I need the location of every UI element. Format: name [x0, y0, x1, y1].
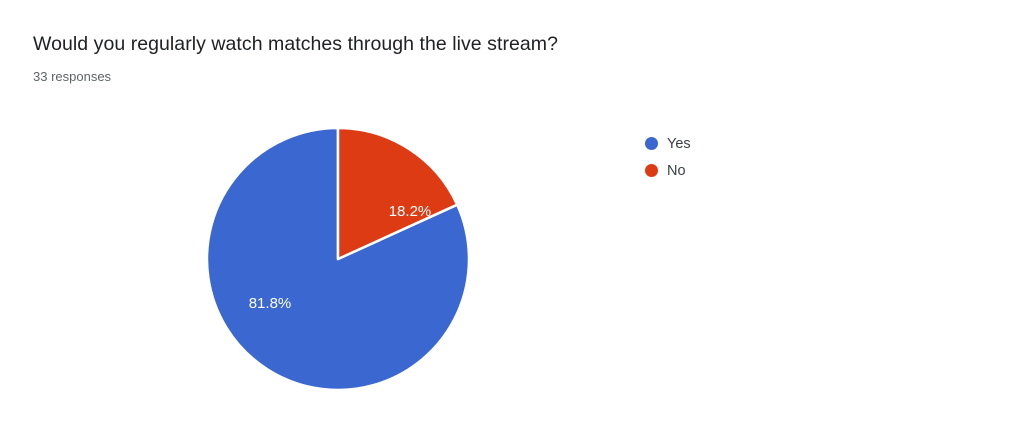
legend-label-no: No — [667, 163, 686, 179]
legend-item-no[interactable]: No — [645, 157, 845, 184]
legend-item-yes[interactable]: Yes — [645, 130, 845, 157]
legend-swatch-icon-yes — [645, 137, 658, 150]
legend-label-yes: Yes — [667, 136, 691, 152]
pie-slice-label-no: 18.2% — [389, 203, 432, 220]
pie-slice-label-yes: 81.8% — [249, 295, 292, 312]
chart-card: Would you regularly watch matches throug… — [0, 0, 1024, 431]
response-count: 33 responses — [33, 68, 111, 86]
page-title: Would you regularly watch matches throug… — [33, 31, 558, 57]
pie-slices — [207, 128, 469, 390]
chart-legend: Yes No — [645, 130, 845, 184]
legend-swatch-icon-no — [645, 164, 658, 177]
pie-chart: 81.8% 18.2% — [195, 115, 485, 405]
pie-chart-svg: 81.8% 18.2% — [195, 115, 485, 405]
